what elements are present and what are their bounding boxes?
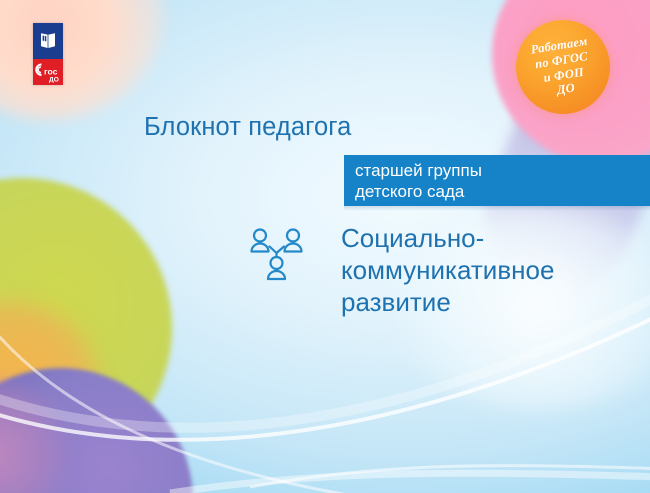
banner-line-1: старшей группы: [355, 160, 650, 181]
publisher-logo: гос ДО: [33, 23, 63, 85]
svg-text:ДО: ДО: [49, 76, 59, 83]
publisher-logo-bottom-block: гос ДО: [33, 59, 63, 85]
fgos-fop-badge: Работаем по ФГОС и ФОП ДО: [516, 20, 610, 114]
subject-heading: Социально-коммуникативное развитие: [341, 222, 641, 318]
gos-do-mark-icon: гос ДО: [33, 59, 63, 85]
cover-title: Блокнот педагога: [144, 113, 351, 142]
svg-text:гос: гос: [44, 66, 58, 76]
publisher-logo-top-block: [33, 23, 63, 59]
banner-shadow: [344, 206, 650, 211]
book-cover: гос ДО Работаем по ФГОС и ФОП ДО Блокнот…: [0, 0, 650, 493]
fgos-fop-badge-text: Работаем по ФГОС и ФОП ДО: [530, 33, 596, 100]
age-group-banner: старшей группы детского сада: [344, 155, 650, 206]
open-book-icon: [40, 31, 56, 49]
three-people-network-icon: [249, 226, 307, 288]
banner-line-2: детского сада: [355, 181, 650, 202]
